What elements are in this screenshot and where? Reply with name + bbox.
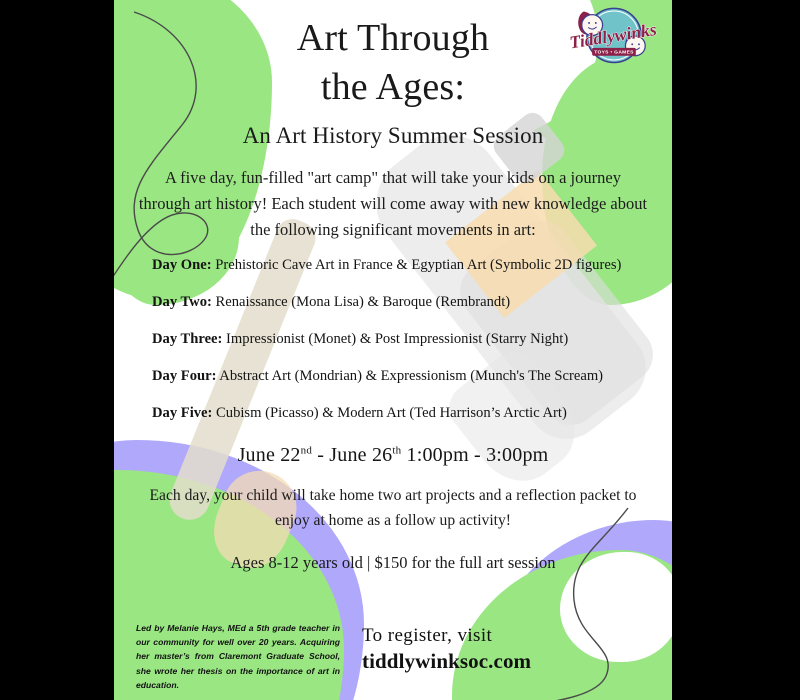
flyer-content: Art Through the Ages: An Art History Sum… (114, 0, 672, 700)
register-prompt: To register, visit (362, 625, 531, 647)
day-label: Day One: (152, 257, 212, 273)
start-date-ordinal: nd (301, 445, 312, 457)
list-item: Day Five: Cubism (Picasso) & Modern Art … (152, 405, 646, 422)
day-text: Prehistoric Cave Art in France & Egyptia… (212, 257, 622, 273)
start-date: June 22 (238, 444, 301, 466)
take-home-paragraph: Each day, your child will take home two … (138, 484, 648, 534)
day-label: Day Three: (152, 331, 222, 347)
register-url[interactable]: tiddlywinksoc.com (362, 649, 531, 674)
flyer-canvas: Tiddlywinks TOYS • GAMES Art Through the… (114, 0, 672, 700)
intro-paragraph: A five day, fun-filled "art camp" that w… (138, 165, 648, 243)
list-item: Day One: Prehistoric Cave Art in France … (152, 257, 646, 274)
ages-and-price: Ages 8-12 years old | $150 for the full … (138, 553, 648, 573)
end-date: June 26 (329, 444, 392, 466)
end-date-ordinal: th (392, 445, 401, 457)
day-text: Renaissance (Mona Lisa) & Baroque (Rembr… (212, 294, 510, 310)
register-block: To register, visit tiddlywinksoc.com (362, 625, 531, 674)
instructor-bio: Led by Melanie Hays, MEd a 5th grade tea… (136, 621, 340, 692)
day-text: Abstract Art (Mondrian) & Expressionism … (216, 368, 603, 384)
screenshot-frame: Tiddlywinks TOYS • GAMES Art Through the… (0, 0, 800, 700)
day-text: Impressionist (Monet) & Post Impressioni… (222, 331, 568, 347)
flyer-footer: Led by Melanie Hays, MEd a 5th grade tea… (114, 590, 672, 700)
time-range: 1:00pm - 3:00pm (401, 444, 548, 466)
day-label: Day Five: (152, 405, 212, 421)
page-subtitle: An Art History Summer Session (138, 123, 648, 149)
date-time-line: June 22nd - June 26th 1:00pm - 3:00pm (138, 444, 648, 467)
day-label: Day Two: (152, 294, 212, 310)
date-separator: - (312, 444, 329, 466)
list-item: Day Four: Abstract Art (Mondrian) & Expr… (152, 368, 646, 385)
logo-tagline: TOYS • GAMES (594, 50, 634, 56)
day-list: Day One: Prehistoric Cave Art in France … (138, 257, 648, 422)
day-label: Day Four: (152, 368, 216, 384)
list-item: Day Two: Renaissance (Mona Lisa) & Baroq… (152, 294, 646, 311)
day-text: Cubism (Picasso) & Modern Art (Ted Harri… (212, 405, 566, 421)
tiddlywinks-logo[interactable]: Tiddlywinks TOYS • GAMES (562, 4, 666, 70)
list-item: Day Three: Impressionist (Monet) & Post … (152, 331, 646, 348)
